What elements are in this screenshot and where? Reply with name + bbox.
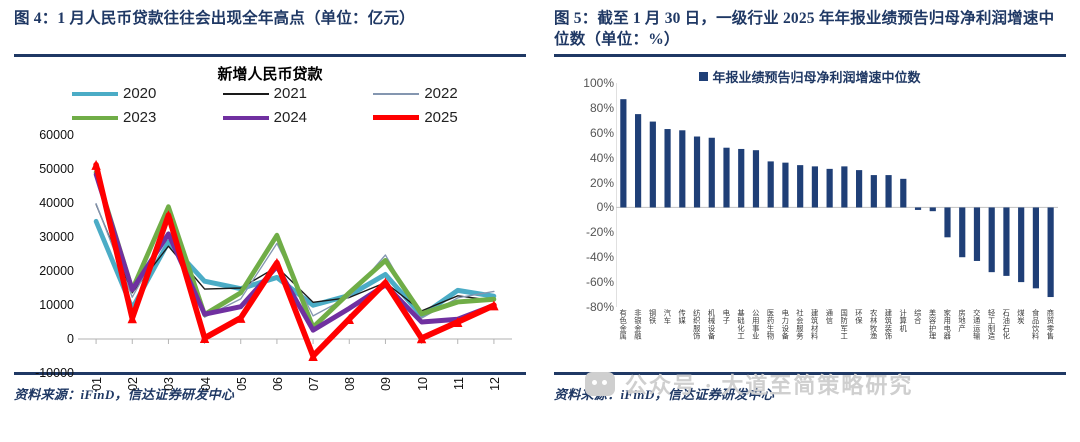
x-tick-label: 房地产	[958, 309, 966, 332]
legend-item-2024: 2024	[223, 109, 374, 126]
bar	[885, 175, 891, 207]
y-tick-label: -80%	[586, 300, 614, 314]
y-tick-label: 40000	[39, 196, 74, 210]
bar	[1048, 207, 1054, 297]
left-panel: 图 4：1 月人民币贷款往往会出现全年高点（单位：亿元） 新增人民币贷款 202…	[0, 0, 540, 442]
x-tick-label: 轻工制造	[988, 309, 996, 340]
bar	[635, 114, 641, 207]
x-tick-label: 环保	[855, 309, 863, 324]
legend-item-2020: 2020	[72, 85, 223, 102]
y-tick-label: 60000	[39, 128, 74, 142]
legend-swatch-2025	[373, 115, 419, 120]
x-tick-label: 机械设备	[708, 309, 716, 340]
legend-swatch-icon	[699, 72, 708, 81]
bar	[974, 207, 980, 261]
x-tick-label: 公用事业	[752, 309, 760, 340]
x-tick-label: 美容护理	[929, 309, 937, 340]
line-chart-title: 新增人民币贷款	[14, 63, 526, 84]
right-panel: 图 5：截至 1 月 30 日，一级行业 2025 年年报业绩预告归母净利润增速…	[540, 0, 1080, 442]
x-tick-label: 传媒	[678, 309, 686, 324]
bar	[768, 161, 774, 207]
bar	[738, 149, 744, 207]
x-tick-label: 纺织服饰	[693, 309, 701, 340]
y-tick-label: 80%	[590, 101, 614, 115]
y-tick-label: -40%	[586, 250, 614, 264]
x-tick-label: 04	[199, 377, 213, 391]
new-rmb-loans-line-chart: 新增人民币贷款 202020212022202320242025 6000050…	[14, 57, 526, 372]
x-tick-label: 通信	[826, 309, 834, 324]
bar-chart-y-axis: 100%80%60%40%20%0%-20%-40%-60%-80%	[558, 83, 614, 307]
legend-label-2024: 2024	[274, 109, 307, 126]
bar	[1018, 207, 1024, 282]
bar	[900, 179, 906, 208]
bar	[856, 170, 862, 207]
x-tick-label: 国防军工	[840, 309, 848, 340]
bar	[1033, 207, 1039, 288]
x-tick-label: 01	[90, 377, 104, 391]
x-tick-label: 12	[488, 377, 502, 391]
bar	[709, 138, 715, 208]
legend-label-2025: 2025	[424, 109, 457, 126]
x-tick-label: 社会服务	[796, 309, 804, 340]
right-figure-title: 图 5：截至 1 月 30 日，一级行业 2025 年年报业绩预告归母净利润增速…	[554, 8, 1066, 52]
legend-label-2020: 2020	[123, 85, 156, 102]
bar-chart-plot	[616, 83, 1058, 307]
y-tick-label: 30000	[39, 230, 74, 244]
x-tick-label: 08	[343, 377, 357, 391]
x-tick-label: 建筑装饰	[885, 309, 893, 340]
line-chart-plot	[78, 135, 512, 373]
x-tick-label: 02	[126, 377, 140, 391]
y-tick-label: 100%	[583, 76, 614, 90]
marker-2025	[91, 160, 100, 170]
line-chart-legend: 202020212022202320242025	[72, 85, 524, 126]
legend-label-2022: 2022	[424, 85, 457, 102]
bar	[694, 137, 700, 208]
legend-item-2025: 2025	[373, 109, 524, 126]
legend-swatch-2020	[72, 92, 118, 96]
legend-item-2023: 2023	[72, 109, 223, 126]
x-tick-label: 石油石化	[1002, 309, 1010, 340]
bar	[753, 150, 759, 207]
bar	[650, 122, 656, 208]
bar	[827, 169, 833, 208]
y-tick-label: 60%	[590, 126, 614, 140]
x-tick-label: 食品饮料	[1032, 309, 1040, 340]
y-tick-label: 50000	[39, 162, 74, 176]
legend-label-2023: 2023	[123, 109, 156, 126]
legend-item-2022: 2022	[373, 85, 524, 102]
y-tick-label: -10000	[35, 366, 74, 380]
y-tick-label: -60%	[586, 275, 614, 289]
y-tick-label: -20%	[586, 225, 614, 239]
bar	[841, 166, 847, 207]
line-chart-y-axis: 6000050000400003000020000100000-10000	[20, 135, 74, 373]
legend-swatch-2024	[223, 116, 269, 120]
bar	[782, 163, 788, 208]
left-figure-title: 图 4：1 月人民币贷款往往会出现全年高点（单位：亿元）	[14, 8, 526, 52]
x-tick-label: 医药生物	[767, 309, 775, 340]
x-tick-label: 06	[271, 377, 285, 391]
bar	[620, 99, 626, 207]
y-tick-label: 20%	[590, 176, 614, 190]
y-tick-label: 20000	[39, 264, 74, 278]
bar	[989, 207, 995, 272]
y-tick-label: 10000	[39, 298, 74, 312]
x-tick-label: 商贸零售	[1047, 309, 1055, 340]
bar	[871, 175, 877, 207]
legend-swatch-2023	[72, 116, 118, 120]
x-tick-label: 11	[452, 377, 466, 390]
x-tick-label: 非银金融	[634, 309, 642, 340]
y-tick-label: 40%	[590, 151, 614, 165]
x-tick-label: 建筑材料	[811, 309, 819, 340]
x-tick-label: 基础化工	[737, 309, 745, 340]
legend-item-2021: 2021	[223, 85, 374, 102]
x-tick-label: 钢铁	[649, 309, 657, 324]
line-chart-x-axis: 010203040506070809101112	[78, 377, 512, 417]
x-tick-label: 汽车	[664, 309, 672, 324]
right-chart-area: 年报业绩预告归母净利润增速中位数 100%80%60%40%20%0%-20%-…	[554, 57, 1066, 372]
bar	[1003, 207, 1009, 275]
x-tick-label: 05	[235, 377, 249, 391]
bar	[930, 207, 936, 211]
left-chart-area: 新增人民币贷款 202020212022202320242025 6000050…	[14, 57, 526, 372]
x-tick-label: 交通运输	[973, 309, 981, 340]
legend-swatch-2022	[373, 93, 419, 95]
figure-page: 图 4：1 月人民币贷款往往会出现全年高点（单位：亿元） 新增人民币贷款 202…	[0, 0, 1080, 442]
x-tick-label: 07	[307, 377, 321, 391]
industry-profit-growth-bar-chart: 年报业绩预告归母净利润增速中位数 100%80%60%40%20%0%-20%-…	[554, 57, 1066, 372]
x-tick-label: 电子	[723, 309, 731, 324]
x-tick-label: 03	[162, 377, 176, 391]
bar	[723, 148, 729, 208]
legend-label-2021: 2021	[274, 85, 307, 102]
y-tick-label: 0%	[597, 200, 614, 214]
x-tick-label: 有色金属	[619, 309, 627, 340]
bar	[944, 207, 950, 237]
y-tick-label: 0	[67, 332, 74, 346]
bar	[797, 165, 803, 207]
x-tick-label: 家用电器	[944, 309, 952, 340]
legend-swatch-2021	[223, 93, 269, 95]
x-tick-label: 农林牧渔	[870, 309, 878, 340]
bar	[664, 129, 670, 207]
x-tick-label: 电力设备	[781, 309, 789, 340]
x-tick-label: 煤炭	[1017, 309, 1025, 324]
bar	[679, 130, 685, 207]
x-tick-label: 10	[416, 377, 430, 391]
x-tick-label: 09	[379, 377, 393, 391]
bar-chart-x-axis: 有色金属非银金融钢铁汽车传媒纺织服饰机械设备电子基础化工公用事业医药生物电力设备…	[616, 309, 1058, 387]
x-tick-label: 计算机	[899, 309, 907, 332]
bar	[915, 207, 921, 209]
bar	[812, 166, 818, 207]
x-tick-label: 综合	[914, 309, 922, 324]
bar	[959, 207, 965, 257]
